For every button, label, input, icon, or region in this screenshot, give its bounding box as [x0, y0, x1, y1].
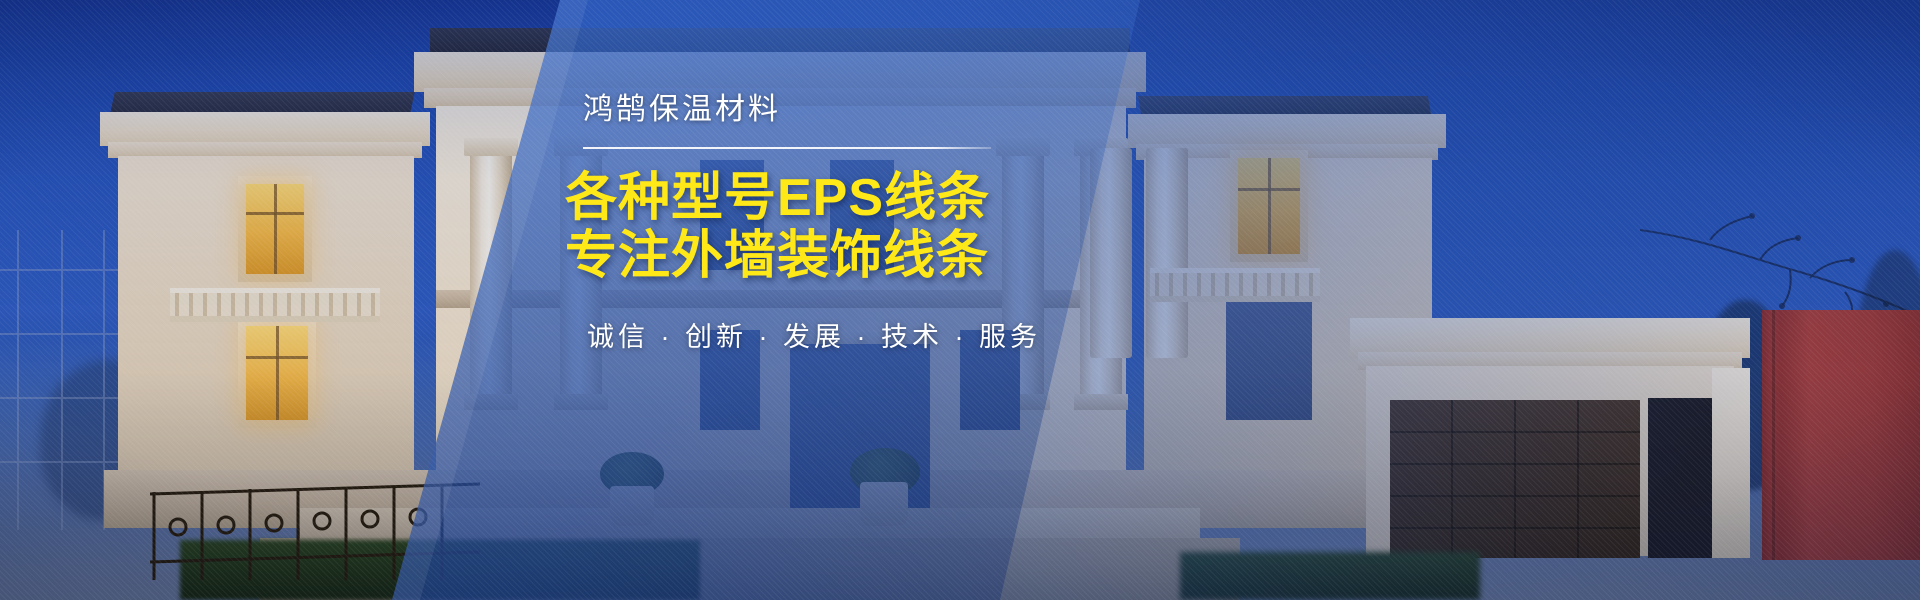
- headline-line-1: 各种型号EPS线条: [565, 169, 1035, 227]
- banner-content: 鸿鹄保温材料 各种型号EPS线条 专注外墙装饰线条 诚信 · 创新 · 发展 ·…: [565, 95, 1035, 354]
- tagline: 诚信 · 创新 · 发展 · 技术 · 服务: [587, 315, 1035, 354]
- headline-line-2: 专注外墙装饰线条: [565, 227, 1035, 285]
- headline: 各种型号EPS线条 专注外墙装饰线条: [565, 169, 1035, 285]
- divider-rule: [583, 147, 991, 149]
- hero-banner: 鸿鹄保温材料 各种型号EPS线条 专注外墙装饰线条 诚信 · 创新 · 发展 ·…: [0, 0, 1920, 600]
- brand-name: 鸿鹄保温材料: [583, 95, 1035, 125]
